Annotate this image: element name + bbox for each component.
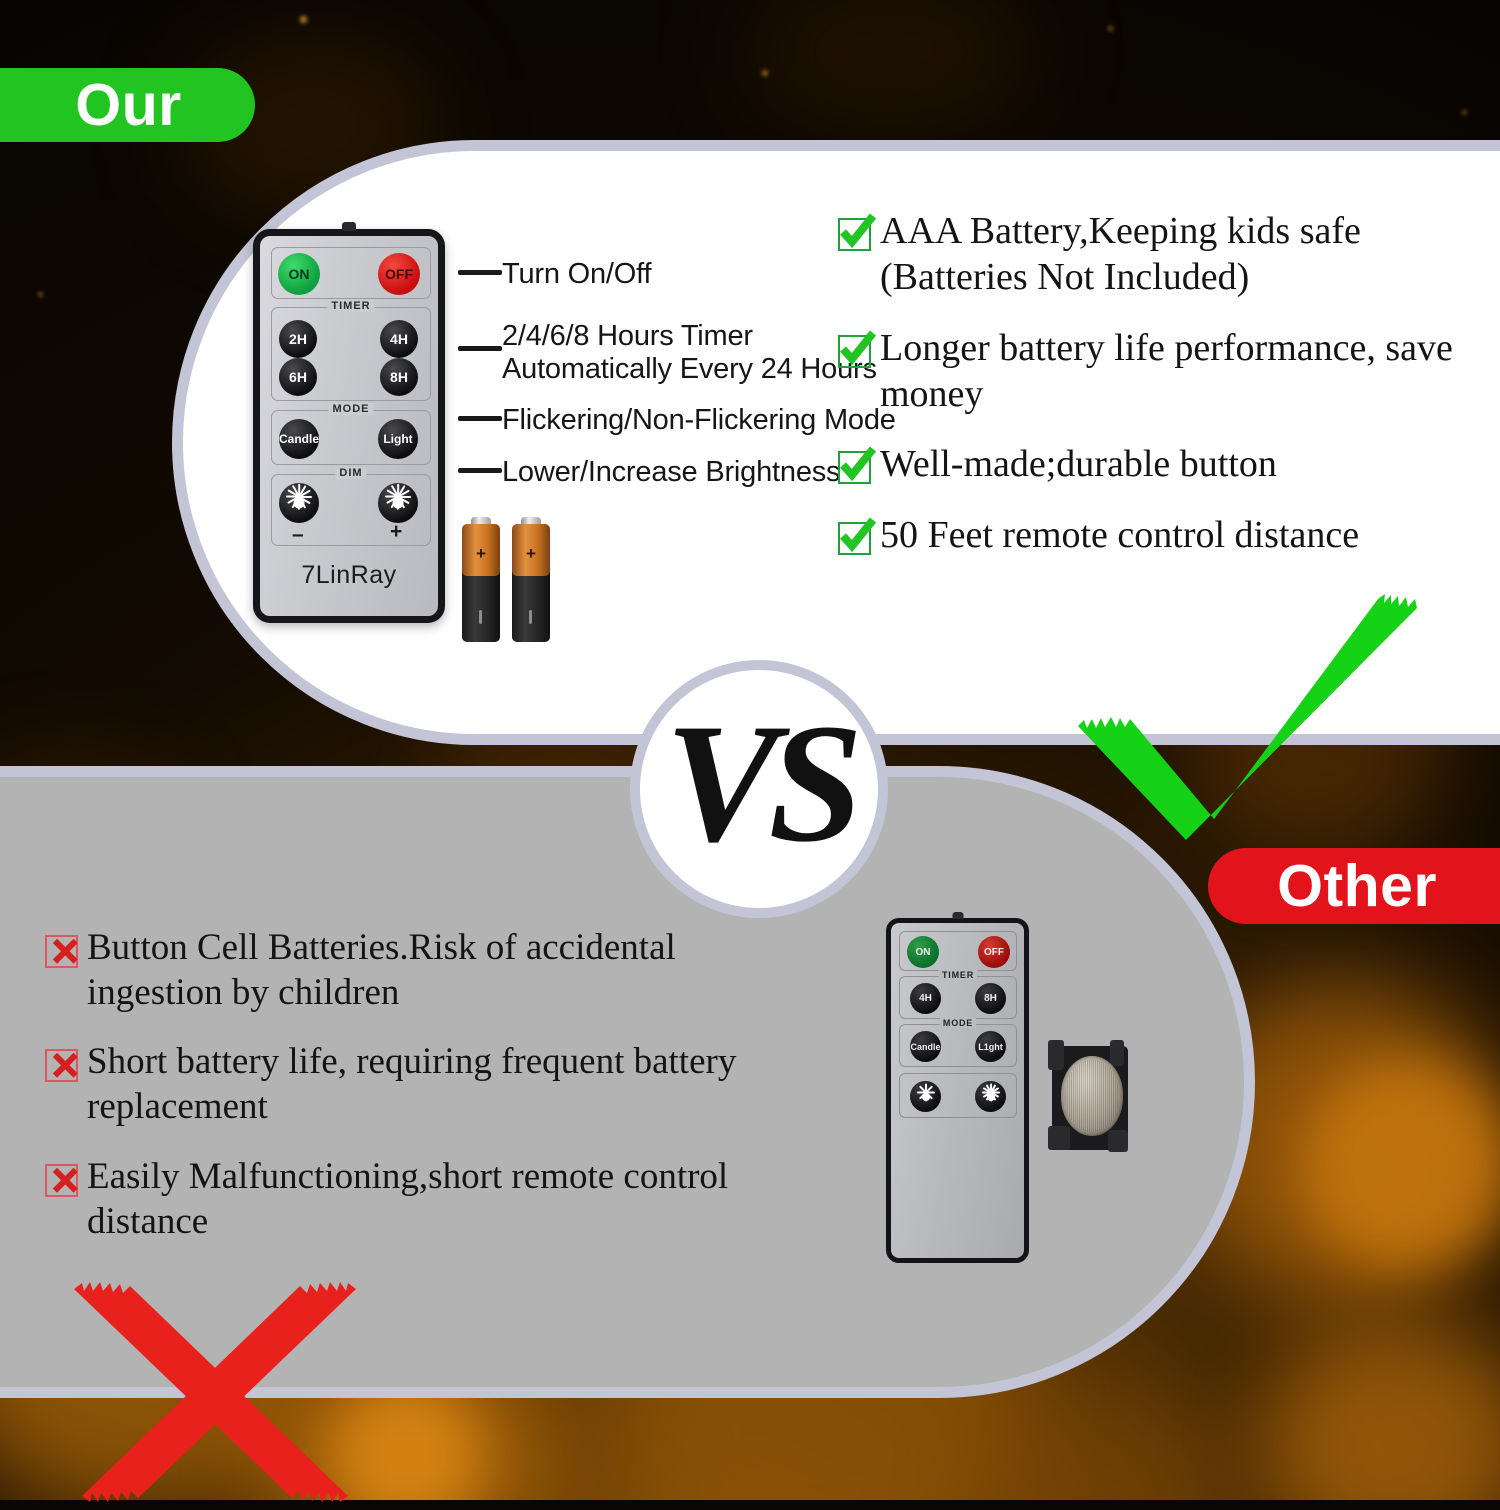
our-badge: Our — [0, 68, 255, 142]
off-button-label: OFF — [984, 947, 1004, 958]
our-badge-label: Our — [75, 71, 181, 139]
timer-8h-button[interactable]: 8H — [975, 983, 1006, 1014]
checkbox-check-icon — [838, 335, 871, 368]
checkbox-cross-icon — [45, 1164, 78, 1197]
callout-lead-line — [458, 270, 502, 275]
timer-4h-label: 4H — [390, 331, 408, 347]
mode-button-group: MODE Candle Light — [271, 410, 431, 465]
timer-6h-label: 6H — [289, 369, 307, 385]
big-check-icon — [1060, 585, 1430, 855]
timer-8h-label: 8H — [390, 369, 408, 385]
big-cross-icon — [60, 1245, 370, 1510]
checkbox-cross-icon — [45, 935, 78, 968]
dim-button-group: DIM — [271, 474, 431, 546]
callout-power: Turn On/Off — [502, 255, 651, 294]
sun-brightness-icon — [981, 1087, 1000, 1106]
timer-4h-label: 4H — [919, 993, 932, 1004]
timer-8h-button[interactable]: 8H — [380, 358, 418, 396]
vs-divider: VS — [630, 660, 888, 918]
list-item-label: Longer battery life performance, save mo… — [880, 325, 1498, 418]
aaa-battery-icon: + — [512, 514, 550, 642]
timer-button-group: TIMER 2H 4H 6H 8H — [271, 307, 431, 401]
checkbox-check-icon — [838, 522, 871, 555]
timer-2h-label: 2H — [289, 331, 307, 347]
off-button-label: OFF — [385, 266, 413, 282]
timer-group-label: TIMER — [939, 970, 977, 980]
on-button-label: ON — [916, 947, 931, 958]
other-badge-label: Other — [1277, 852, 1437, 920]
sun-brightness-icon — [286, 490, 312, 516]
dim-down-button[interactable] — [279, 483, 319, 523]
off-button[interactable]: OFF — [378, 253, 420, 295]
sun-brightness-icon — [385, 490, 411, 516]
aaa-battery-icon: + — [462, 514, 500, 642]
our-remote-control: ON OFF TIMER 2H 4H 6H 8H MODE Candle Lig… — [253, 229, 445, 623]
callout-lead-line — [458, 468, 502, 473]
vs-label: VS — [665, 698, 853, 868]
other-remote-control: ON OFF TIMER 4H 8H MODE Candle L1ght — [886, 918, 1029, 1263]
callout-timer-line2: Automatically Every 24 Hours — [502, 350, 877, 389]
on-button[interactable]: ON — [278, 253, 320, 295]
callout-lead-line — [458, 346, 502, 351]
mode-button-group: MODE Candle L1ght — [899, 1024, 1017, 1067]
mode-group-label: MODE — [940, 1018, 976, 1028]
timer-4h-button[interactable]: 4H — [910, 983, 941, 1014]
timer-4h-button[interactable]: 4H — [380, 320, 418, 358]
list-item: 50 Feet remote control distance — [838, 512, 1498, 558]
mode-candle-label: Candle — [279, 432, 319, 446]
dim-button-group — [899, 1073, 1017, 1118]
other-badge: Other — [1208, 848, 1500, 924]
dim-plus-label: + — [390, 520, 402, 544]
pros-list: AAA Battery,Keeping kids safe (Batteries… — [838, 208, 1498, 582]
off-button[interactable]: OFF — [978, 936, 1010, 968]
mode-candle-button[interactable]: Candle — [279, 419, 319, 459]
list-item: Short battery life, requiring frequent b… — [45, 1039, 785, 1129]
list-item: AAA Battery,Keeping kids safe (Batteries… — [838, 208, 1498, 301]
on-button[interactable]: ON — [907, 936, 939, 968]
power-button-group: ON OFF — [271, 247, 431, 299]
remote-ir-nub — [342, 222, 356, 231]
dim-up-button[interactable] — [975, 1081, 1006, 1112]
list-item-label: Short battery life, requiring frequent b… — [87, 1039, 785, 1129]
mode-candle-button[interactable]: Candle — [910, 1031, 941, 1062]
mode-light-button[interactable]: Light — [378, 419, 418, 459]
power-button-group: ON OFF — [899, 931, 1017, 971]
callout-mode: Flickering/Non-Flickering Mode — [502, 401, 896, 440]
dim-minus-label: – — [292, 523, 304, 547]
mode-light-label: L1ght — [978, 1042, 1003, 1052]
list-item-label: AAA Battery,Keeping kids safe (Batteries… — [880, 208, 1498, 301]
checkbox-check-icon — [838, 218, 871, 251]
coin-cell-battery-icon — [1048, 1040, 1133, 1155]
checkbox-check-icon — [838, 451, 871, 484]
remote-brand-label: 7LinRay — [260, 561, 438, 590]
mode-candle-label: Candle — [910, 1042, 940, 1052]
sun-brightness-icon — [916, 1087, 935, 1106]
list-item-label: Easily Malfunctioning,short remote contr… — [87, 1154, 785, 1244]
list-item: Button Cell Batteries.Risk of accidental… — [45, 925, 785, 1015]
dim-group-label: DIM — [335, 467, 366, 479]
mode-light-label: Light — [383, 432, 412, 446]
mode-light-button[interactable]: L1ght — [975, 1031, 1006, 1062]
timer-8h-label: 8H — [984, 993, 997, 1004]
list-item-label: Well-made;durable button — [880, 441, 1277, 487]
mode-group-label: MODE — [329, 403, 374, 415]
list-item: Easily Malfunctioning,short remote contr… — [45, 1154, 785, 1244]
timer-6h-button[interactable]: 6H — [279, 358, 317, 396]
list-item: Longer battery life performance, save mo… — [838, 325, 1498, 418]
list-item-label: 50 Feet remote control distance — [880, 512, 1359, 558]
dim-up-button[interactable] — [378, 483, 418, 523]
remote-ir-nub — [952, 912, 963, 919]
callout-lead-line — [458, 416, 502, 421]
list-item: Well-made;durable button — [838, 441, 1498, 487]
cons-list: Button Cell Batteries.Risk of accidental… — [45, 925, 785, 1268]
on-button-label: ON — [289, 266, 310, 282]
callout-dim: Lower/Increase Brightness — [502, 453, 840, 492]
list-item-label: Button Cell Batteries.Risk of accidental… — [87, 925, 785, 1015]
timer-group-label: TIMER — [327, 300, 374, 312]
timer-2h-button[interactable]: 2H — [279, 320, 317, 358]
dim-down-button[interactable] — [910, 1081, 941, 1112]
timer-button-group: TIMER 4H 8H — [899, 976, 1017, 1019]
checkbox-cross-icon — [45, 1049, 78, 1082]
